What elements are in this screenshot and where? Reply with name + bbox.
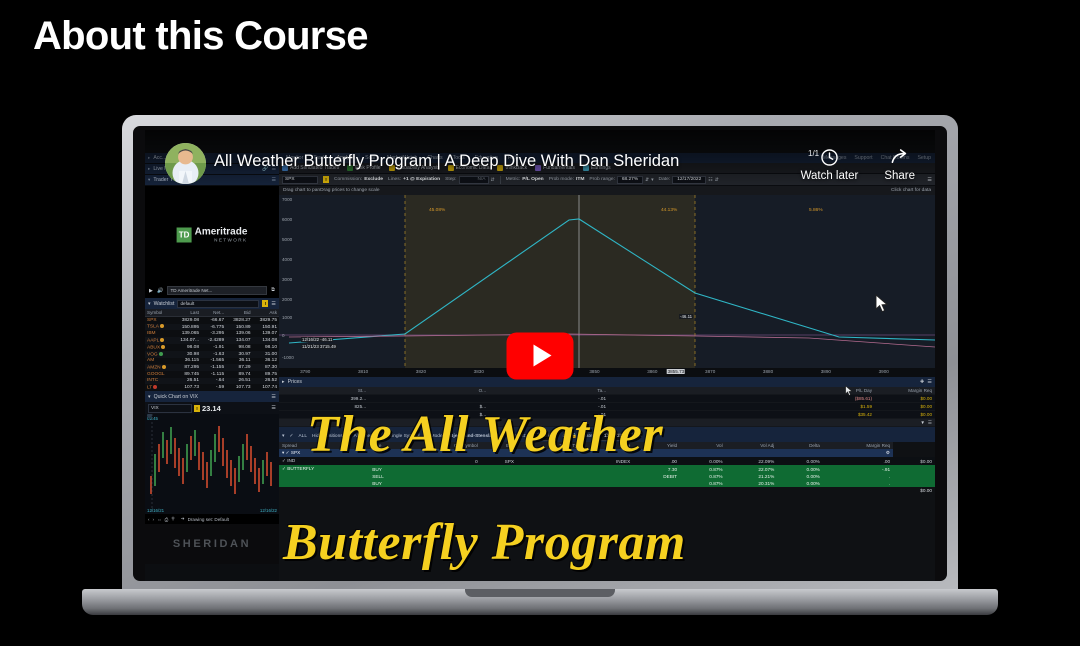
x-label-3890: 3890 [821,369,831,374]
pos-margin [893,480,935,487]
alert-badge[interactable]: ! [194,405,200,412]
watchlist-net: -66.67 [201,317,226,324]
drawing-set-label[interactable]: Drawing set: Default [188,517,229,522]
chart-hint-bar: Drag chart to panDrag prices to change s… [279,186,935,195]
pos-side: BUY [369,465,410,473]
annotation-45pct: 45.08% [429,208,445,213]
x-label-3880: 3880 [763,369,773,374]
pos-col-margin-req[interactable]: Margin Req [823,442,893,449]
positions-row[interactable]: SELLDEBIT0.87%21.21%0.00%. [279,473,935,480]
watch-later-button[interactable]: Watch later [801,148,859,182]
chart-x-axis[interactable]: 3790381038203830384038503860387038803890… [279,368,935,377]
watchlist-ask: 150.91 [253,324,279,331]
pos-spread [279,480,369,487]
col-st: St... [279,388,369,393]
volume-icon[interactable]: 🔊 [157,288,163,294]
status-dot [153,385,157,389]
status-dot [160,324,164,328]
watchlist-net: -6.775 [201,324,226,331]
watchlist-row[interactable]: IBM139.065-3.295139.06139.07 [145,330,279,337]
pos-spread [279,473,369,480]
watchlist-row[interactable]: AMZN87.295-1.15587.2987.30 [145,364,279,371]
prices-cell-ta: -.01 [489,396,609,401]
watchlist-last: 107.73 [173,384,201,391]
watchlist-last: 89.745 [173,371,201,378]
watchlist-bid: 150.89 [226,324,252,331]
laptop-bezel: ▸ Acc... ☰ ▸ Live News 🔗 ☰ [133,126,947,581]
chart-end-date: 12/16/22 [260,508,277,513]
share-label: Share [884,170,915,182]
step-value[interactable]: N/A [459,176,489,184]
row-checkbox[interactable]: ✓ [282,458,286,463]
pos-vol: 21.21% [726,473,778,480]
play-icon[interactable]: ▶ [149,288,153,294]
pos-vol: 22.07% [726,465,778,473]
avatar[interactable] [165,143,206,184]
pos-yield: 0.87% [680,480,726,487]
margin-value: $0.00 [875,404,935,409]
stepper-icon[interactable]: ⇵ [491,177,495,183]
watchlist-symbol: SPX [145,317,173,324]
x-label-3900: 3900 [879,369,889,374]
watchlist-last: 3829.08 [173,317,201,324]
play-icon [534,345,552,367]
col-symbol[interactable]: Symbol [145,309,173,317]
chart-hint-left: Drag chart to panDrag prices to change s… [283,188,380,193]
drawing-toolbar[interactable]: ‹ › ⇔ ⎙ ⚲ ➔ Drawing set: Default [145,514,279,524]
tv-player-controls[interactable]: ▶ 🔊 TD Ameritrade Net... ⧉ [145,285,279,296]
candlestick-svg [145,414,279,514]
metric-control[interactable]: Metric: P/L Open [506,177,544,182]
col-ask[interactable]: Ask [253,309,279,317]
watchlist-table: Symbol Last Net... Bid Ask SPX3829.08-66… [145,309,279,391]
menubar-link-setup[interactable]: Setup [917,155,931,161]
panel-menu-icon[interactable]: ☰ [271,301,276,307]
watchlist-net: -1.565 [201,358,226,365]
pos-strike-type [585,473,633,480]
positions-total-row: $0.00 [279,487,935,494]
watchlist-bid: 26.51 [226,378,252,385]
video-title[interactable]: All Weather Butterfly Program | A Deep D… [214,152,679,171]
watchlist-last: 150.895 [173,324,201,331]
pos-vol-adj: 0.00% [777,457,823,465]
price-tag-right: -46.11 [679,314,693,319]
watchlist-symbol: LT [145,384,173,391]
pos-price: 7.30 [633,465,680,473]
prob-mode-control[interactable]: Prob mode: ITM [549,177,585,182]
stepper-icon[interactable]: ⇵ [645,177,649,183]
lines-value: +1 @ Expiration [403,177,440,182]
margin-value: $0.00 [875,412,935,417]
print-icon[interactable]: ⎙ [165,517,169,522]
x-label-3830: 3830 [474,369,484,374]
watchlist-header-row: Symbol Last Net... Bid Ask [145,309,279,317]
search-icon[interactable]: ⚲ [171,516,174,522]
col-ta: Ta... [489,388,609,393]
pos-symbol [481,473,517,480]
pos-symbol [481,480,517,487]
prices-panel-title: Prices [288,379,302,385]
x-label-3850: 3850 [589,369,599,374]
status-dot [160,338,164,342]
tv-channel-label[interactable]: TD Ameritrade Net... [167,286,267,295]
chevron-down-icon: ▾ [148,301,151,307]
alert-badge[interactable]: ! [323,176,329,183]
watchlist-row[interactable]: INTC26.51-.6426.5126.52 [145,378,279,385]
calendar-icon[interactable]: ☷ [708,177,712,183]
watchlist-last: 30.98 [173,351,201,358]
pos-qty [411,465,481,473]
filter-all[interactable]: ALL [298,434,307,439]
pos-vol: 22.09% [726,457,778,465]
watchlist-row[interactable]: TSLA150.895-6.775150.89150.91 [145,324,279,331]
col-last[interactable]: Last [173,309,201,317]
watchlist-bid: 87.29 [226,364,252,371]
pl-day-value: $1.59 [805,404,875,409]
watchlist-ask: 98.10 [253,344,279,351]
lines-label: Lines: [388,177,401,182]
sidebar-item-trader-tv[interactable]: ▾ Trader TV ☰ [145,175,279,186]
watchlist-ask: 31.00 [253,351,279,358]
pos-exp [517,465,585,473]
row-checkbox[interactable]: ✓ [282,466,286,471]
panel-menu-icon[interactable]: ☰ [272,177,276,183]
popout-icon[interactable]: ⧉ [271,287,275,294]
watchlist-symbol: AMZN [145,364,173,371]
watchlist-net: -1.91 [201,344,226,351]
chevron-down-icon: ▾ [148,394,151,400]
watchlist-net: -.59 [201,384,226,391]
panel-menu-icon[interactable]: ☰ [271,405,276,411]
watchlist-row[interactable]: ABUX98.08-1.9198.0898.10 [145,344,279,351]
add-icon[interactable]: ✚ [920,379,924,385]
price-tag-left: 12/16/22 -46.11 [301,337,333,342]
y-label-2000: 2000 [282,297,292,302]
stepper-icon[interactable]: ⇵ [715,177,719,183]
prob-range-label: Prob range: [589,177,615,182]
prices-header-row: St... O... Ta... P/L Day Margin Req [279,387,935,395]
panel-menu-icon[interactable]: ☰ [927,177,932,183]
laptop-screen: ▸ Acc... ☰ ▸ Live News 🔗 ☰ [145,130,935,581]
laptop-mockup: ▸ Acc... ☰ ▸ Live News 🔗 ☰ [122,115,958,615]
y-label-4000: 4000 [282,257,292,262]
date-control[interactable]: Date: 12/17/2022 ☷ ⇵ [659,176,719,184]
alert-badge[interactable]: ! [262,300,268,307]
commission-control[interactable]: Commission: Exclude [334,177,383,182]
clock-icon [820,148,839,167]
watchlist-row[interactable]: SPX3829.08-66.673828.273829.75 [145,317,279,324]
watchlist-net: -3.295 [201,330,226,337]
panel-menu-icon[interactable]: ☰ [927,379,932,385]
page-title: About this Course [33,14,368,59]
price-tag-left2: 11/21/23 3715.49 [301,344,337,349]
prices-row[interactable]: 399.2... -.01 ($85.61) $0.00 [279,395,935,403]
share-arrow-icon [889,148,910,167]
headline-line-2: Butterfly Program [283,513,686,572]
margin-value: $0.00 [875,396,935,401]
headline-line-1: The All Weather [307,405,663,464]
pos-col-vol-adj[interactable]: Vol Adj [726,442,778,449]
x-label-3810: 3810 [358,369,368,374]
row-checkbox[interactable]: ✓ [286,450,290,455]
chevron-right-icon: ▸ [148,155,150,161]
pos-margin [893,465,935,473]
watchlist-net: -.64 [201,378,226,385]
mouse-cursor-icon [875,294,889,314]
screenshot-root: About this Course ▸ Acc... ☰ [0,0,1080,646]
quick-chart-controls[interactable]: VIX ! 23.14 ☰ [145,402,279,414]
x-label-3820: 3820 [416,369,426,374]
watchlist-symbol: TSLA [145,324,173,331]
prob-range-value[interactable]: 68.27% [617,176,643,184]
pan-icon[interactable]: ⇔ [157,517,162,522]
pos-yield: 0.87% [680,465,726,473]
laptop-base [82,589,998,615]
commission-label: Commission: [334,177,362,182]
lines-control[interactable]: Lines: +1 @ Expiration [388,177,440,182]
risk-profile-svg [279,195,935,377]
watchlist-ask: 89.75 [253,371,279,378]
prob-mode-value: ITM [576,177,584,182]
watchlist-bid: 139.06 [226,330,252,337]
watchlist-symbol: AAPL [145,337,173,344]
mouse-cursor-icon [845,385,853,397]
panel-menu-icon[interactable]: ☰ [925,420,935,426]
watchlist-last: 26.51 [173,378,201,385]
sheridan-logo: SHERIDAN [145,524,279,564]
y-label-1000: 1000 [282,315,292,320]
watchlist-ask: 87.30 [253,364,279,371]
watchlist-net: -1.115 [201,371,226,378]
status-dot [159,352,163,356]
watchlist-title: Watchlist [154,301,175,307]
chevron-right-icon: ▸ [148,166,150,172]
vix-candlestick-chart[interactable]: 02:45 12/16/21 12/16/22 [145,414,279,514]
commission-value: Exclude [364,177,383,182]
zoom-out-icon[interactable]: ‹ [148,517,150,522]
vix-last-price: 23.14 [202,404,221,413]
pos-strike-type [585,465,633,473]
annotation-44pct: 44.13% [661,208,677,213]
watchlist-last: 139.065 [173,330,201,337]
prob-mode-label: Prob mode: [549,177,574,182]
watchlist-row[interactable]: LT107.73-.59107.73107.74 [145,384,279,391]
watchlist-symbol: IBM [145,330,173,337]
avatar-photo [165,143,206,184]
pos-exp [517,480,585,487]
pos-delta: . [823,473,893,480]
pos-margin [893,473,935,480]
step-control[interactable]: Step: N/A ⇵ [445,176,495,184]
positions-total-margin: $0.00 [893,487,935,494]
chevron-down-icon[interactable]: ▾ [282,450,284,455]
watchlist-bid: 36.11 [226,358,252,365]
pos-exp [517,473,585,480]
x-label-current-price: 3855.73 [667,369,686,374]
x-label-3860: 3860 [647,369,657,374]
watchlist-symbol: ABUX [145,344,173,351]
watchlist-last: 36.115 [173,358,201,365]
prices-panel-header[interactable]: ▸ Prices ✚ ☰ [279,377,935,387]
watchlist-select[interactable]: default [177,300,259,308]
zoom-in-icon[interactable]: › [153,517,155,522]
chevron-down-icon[interactable]: ▾ [282,434,284,439]
pos-col-vol[interactable]: Vol [680,442,726,449]
status-dot [162,365,166,369]
annotation-6pct: 5.86% [809,208,823,213]
col-bid[interactable]: Bid [226,309,252,317]
watchlist-last: 87.295 [173,364,201,371]
pos-vol-adj: 0.00% [777,473,823,480]
col-o: O... [369,388,489,393]
y-label-7000: 7000 [282,197,292,202]
col-pl-day: P/L Day [805,388,875,393]
watchlist-net: -2.4289 [201,337,226,344]
pos-delta: .00 [823,457,893,465]
y-label-3000: 3000 [282,277,292,282]
watchlist-net: -1.63 [201,351,226,358]
watchlist-last: 134.07... [173,337,201,344]
watchlist-bid: 89.74 [226,371,252,378]
step-label: Step: [445,177,456,182]
metric-label: Metric: [506,177,521,182]
pos-yield: 0.00% [680,457,726,465]
pos-col-delta[interactable]: Delta [777,442,823,449]
pos-delta: -.91 [823,465,893,473]
watchlist-symbol: INTC [145,378,173,385]
watch-later-label: Watch later [801,170,859,182]
y-label-neg1000: -1000 [282,355,294,360]
watchlist-row[interactable]: AAPL134.07...-2.4289134.07134.08 [145,337,279,344]
vix-symbol-input[interactable]: VIX [148,404,192,413]
watchlist-last: 98.08 [173,344,201,351]
watchlist-bid: 107.73 [226,384,252,391]
prices-cell-st: 399.2... [279,396,369,401]
pos-side: SELL [369,473,410,480]
chart-start-date: 12/16/21 [147,508,164,513]
watchlist-row[interactable]: VOG30.98-1.6330.9731.00 [145,351,279,358]
trader-tv-player[interactable]: TD Ameritrade NETWORK ▶ 🔊 TD Amer [145,186,279,298]
y-label-0: 0 [282,333,285,338]
y-label-6000: 6000 [282,217,292,222]
watchlist-header[interactable]: ▾ Watchlist default ! ☰ [145,298,279,309]
chart-hint-right[interactable]: Click chart for data [891,188,931,193]
td-logo-sub: NETWORK [195,238,248,243]
play-button[interactable] [507,332,574,379]
date-label: Date: [659,177,671,182]
watchlist-symbol: AM [145,358,173,365]
td-logo-mark: TD [177,228,192,243]
symbol-input[interactable]: SPX [282,176,318,184]
td-ameritrade-logo: TD Ameritrade NETWORK [177,228,248,243]
date-value[interactable]: 12/17/2022 [672,176,706,184]
watchlist-ask: 134.08 [253,337,279,344]
watchlist-ask: 36.12 [253,358,279,365]
metric-value: P/L Open [522,177,543,182]
pos-margin: $0.00 [893,457,935,465]
col-margin-req: Margin Req [875,388,935,393]
pl-day-value: ($85.61) [805,396,875,401]
panel-menu-icon[interactable]: ☰ [271,394,276,400]
laptop-lid: ▸ Acc... ☰ ▸ Live News 🔗 ☰ [122,115,958,597]
gear-icon[interactable]: ⚙ [823,449,893,457]
x-label-3870: 3870 [705,369,715,374]
pos-vol-adj: 0.00% [777,480,823,487]
status-dot [161,345,165,349]
pl-day-value: $35.42 [805,412,875,417]
left-sidebar: ▸ Acc... ☰ ▸ Live News 🔗 ☰ [145,153,279,581]
y-label-5000: 5000 [282,237,292,242]
watchlist-symbol: GOOGL [145,371,173,378]
pos-vol-adj: 0.00% [777,465,823,473]
prob-range-control[interactable]: Prob range: 68.27% ⇵ ▾ [589,176,653,184]
x-label-3790: 3790 [300,369,310,374]
watchlist-ask: 26.52 [253,378,279,385]
watchlist-row[interactable]: GOOGL89.745-1.11589.7489.75 [145,371,279,378]
pos-strike-type [585,480,633,487]
pos-qty [411,480,481,487]
td-logo-name: Ameritrade [195,228,248,238]
col-net[interactable]: Net... [201,309,226,317]
pos-price: DEBIT [633,473,680,480]
pos-symbol [481,465,517,473]
pos-qty [411,473,481,480]
quick-chart-header[interactable]: ▾ Quick Chart on VIX ☰ [145,391,279,402]
positions-row[interactable]: ✓ BUTTERFLYBUY7.300.87%22.07%0.00%-.91 [279,465,935,473]
pos-side: BUY [369,480,410,487]
risk-profile-chart[interactable]: 7000 6000 5000 4000 3000 2000 1000 0 -10… [279,195,935,377]
pos-vol: 20.31% [726,480,778,487]
watchlist-bid: 30.97 [226,351,252,358]
chevron-right-icon: ▸ [282,379,285,385]
watchlist-ask: 139.07 [253,330,279,337]
pos-delta: . [823,480,893,487]
select-all-checkbox[interactable]: ✓ [289,434,293,439]
positions-row[interactable]: BUY0.87%20.31%0.00%. [279,480,935,487]
share-button[interactable]: Share [884,148,915,182]
watchlist-ask: 3829.75 [253,317,279,324]
watchlist-row[interactable]: AM36.115-1.56536.1136.12 [145,358,279,365]
pos-yield: 0.87% [680,473,726,480]
video-actions: Watch later Share [801,148,915,182]
watchlist-bid: 3828.27 [226,317,252,324]
watchlist-ask: 107.74 [253,384,279,391]
watchlist-bid: 134.07 [226,337,252,344]
chevron-down-icon[interactable]: ▾ [651,177,653,183]
watchlist-bid: 98.08 [226,344,252,351]
chevron-down-icon: ▾ [148,177,150,183]
pos-price [633,480,680,487]
watchlist-symbol: VOG [145,351,173,358]
cursor-icon[interactable]: ➔ [181,516,185,522]
watchlist-net: -1.155 [201,364,226,371]
pos-spread: ✓ BUTTERFLY [279,465,369,473]
quick-chart-title: Quick Chart on VIX [154,394,198,400]
